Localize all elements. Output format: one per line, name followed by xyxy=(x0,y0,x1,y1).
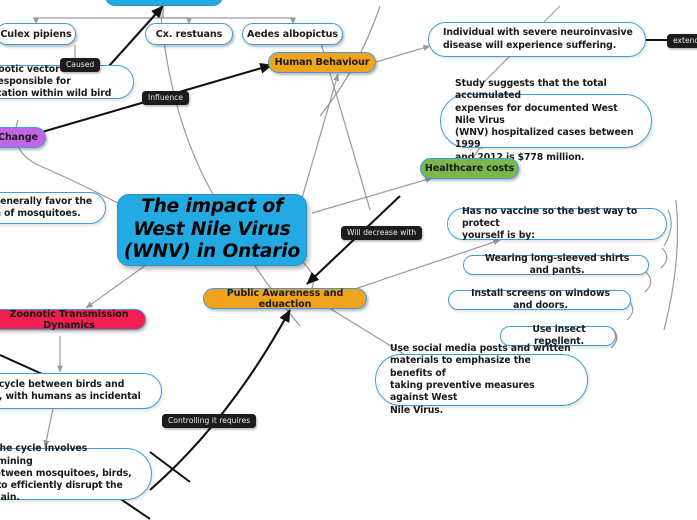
node-cycle-birds[interactable]: s a cycle between birds and oes, with hu… xyxy=(0,373,162,409)
edge-controlling-requires xyxy=(150,310,290,490)
node-human-behaviour[interactable]: Human Behaviour xyxy=(268,52,376,73)
central-topic-line3: (WNV) in Ontario xyxy=(124,241,300,264)
node-human-behaviour-label: Human Behaviour xyxy=(275,57,370,68)
edge-cycle-to-controlling xyxy=(45,409,53,447)
node-cx-restuans[interactable]: Cx. restuans xyxy=(145,23,233,45)
node-public-awareness-label: Public Awareness and eduaction xyxy=(204,288,366,310)
edge-label-extends-text: extends xyxy=(673,36,697,45)
edge-label-extends[interactable]: extends xyxy=(667,34,697,48)
node-no-vaccine[interactable]: Has no vaccine so the best way to protec… xyxy=(447,208,667,240)
edge-vaccine-chain-1 xyxy=(661,248,667,268)
node-long-sleeves[interactable]: Wearing long-sleeved shirts and pants. xyxy=(463,255,649,275)
node-severe-disease-label: Individual with severe neuroinvasive dis… xyxy=(443,27,633,52)
node-favor-mosquitoes[interactable]: s generally favor the ion of mosquitoes. xyxy=(0,192,106,224)
edge-label-caused-text: Caused xyxy=(66,60,94,69)
node-culex-pipiens-label: Culex pipiens xyxy=(0,29,71,40)
edge-vaccine-chain-2 xyxy=(645,272,651,292)
edge-center-to-zoonotic xyxy=(86,262,150,308)
edge-center-to-behaviour xyxy=(300,74,338,205)
edge-label-influence-text: Influence xyxy=(148,93,183,102)
node-central-topic[interactable]: The impact of West Nile Virus (WNV) in O… xyxy=(117,194,307,266)
edge-behaviour-to-disease xyxy=(376,46,430,62)
edge-label-will-decrease-with[interactable]: Will decrease with xyxy=(341,226,422,240)
central-topic-line2: West Nile Virus xyxy=(133,219,290,242)
edge-label-controlling-it-requires-text: Controlling it requires xyxy=(168,416,250,425)
node-controlling-cycle-label: ng the cycle involves examining y betwee… xyxy=(0,443,139,504)
node-install-screens-label: Install screens on windows and doors. xyxy=(463,288,618,313)
node-long-sleeves-label: Wearing long-sleeved shirts and pants. xyxy=(478,253,636,278)
node-controlling-cycle[interactable]: ng the cycle involves examining y betwee… xyxy=(0,448,152,500)
node-climate-change[interactable]: Change xyxy=(0,127,46,148)
node-favor-mosquitoes-label: s generally favor the ion of mosquitoes. xyxy=(0,196,92,221)
node-study-expenses[interactable]: Study suggests that the total accumulate… xyxy=(440,94,652,148)
node-aedes-albopictus-label: Aedes albopictus xyxy=(247,29,338,40)
edge-label-caused[interactable]: Caused xyxy=(60,58,100,72)
node-social-media-label: Use social media posts and written mater… xyxy=(390,343,575,417)
central-topic-line1: The impact of xyxy=(141,196,283,219)
node-public-awareness[interactable]: Public Awareness and eduaction xyxy=(203,288,367,309)
node-cycle-birds-label: s a cycle between birds and oes, with hu… xyxy=(0,379,141,404)
edge-label-controlling-it-requires[interactable]: Controlling it requires xyxy=(162,414,256,428)
node-zoonotic-dynamics[interactable]: Zoonotic Transmission Dynamics xyxy=(0,309,146,330)
edge-top-to-aedes xyxy=(163,6,293,24)
edge-center-to-healthcare xyxy=(312,178,432,213)
node-climate-change-label: Change xyxy=(0,132,38,143)
node-severe-disease[interactable]: Individual with severe neuroinvasive dis… xyxy=(428,22,646,57)
node-zoonotic-dynamics-label: Zoonotic Transmission Dynamics xyxy=(0,309,145,331)
node-cx-restuans-label: Cx. restuans xyxy=(156,29,222,40)
node-culex-pipiens[interactable]: Culex pipiens xyxy=(0,23,76,45)
node-top-clipped[interactable] xyxy=(105,0,223,6)
edge-top-to-culex xyxy=(36,6,163,24)
node-healthcare-costs[interactable]: Healthcare costs xyxy=(420,158,519,179)
mindmap-canvas: Culex pipiens Cx. restuans Aedes albopic… xyxy=(0,0,697,520)
node-install-screens[interactable]: Install screens on windows and doors. xyxy=(448,290,631,310)
node-aedes-albopictus[interactable]: Aedes albopictus xyxy=(242,23,343,45)
node-study-expenses-label: Study suggests that the total accumulate… xyxy=(455,78,639,164)
edge-top-to-restuans xyxy=(163,6,189,24)
node-healthcare-costs-label: Healthcare costs xyxy=(425,163,514,174)
edge-label-will-decrease-with-text: Will decrease with xyxy=(347,228,416,237)
edge-label-influence[interactable]: Influence xyxy=(142,91,189,105)
node-social-media[interactable]: Use social media posts and written mater… xyxy=(375,354,588,406)
edge-bottomleft-3 xyxy=(150,452,190,482)
node-no-vaccine-label: Has no vaccine so the best way to protec… xyxy=(462,206,654,243)
